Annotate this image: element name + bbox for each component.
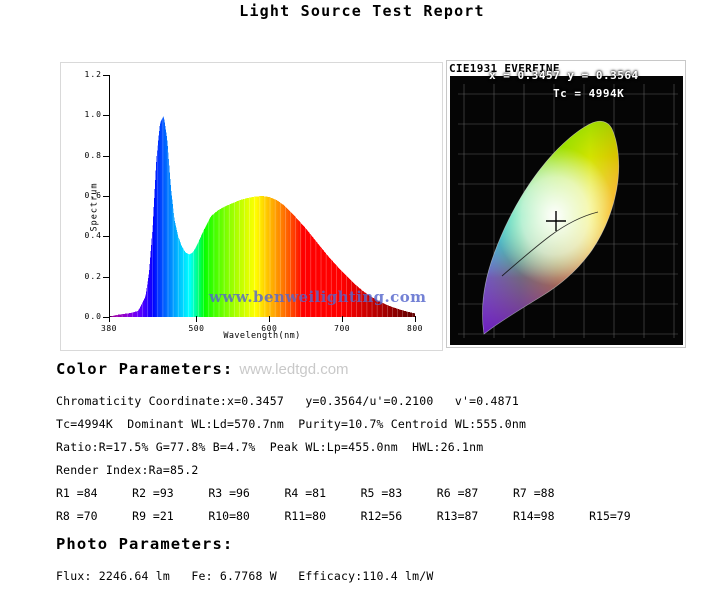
ledtgd-site-label: www.ledtgd.com	[239, 361, 348, 378]
flux-line: Flux: 2246.64 lm Fe: 6.7768 W Efficacy:1…	[56, 565, 434, 588]
ratio-peak-line: Ratio:R=17.5% G=77.8% B=4.7% Peak WL:Lp=…	[56, 436, 631, 459]
color-parameters-heading-text: Color Parameters:	[56, 360, 233, 378]
x-tick	[415, 316, 416, 322]
x-tick	[109, 316, 110, 322]
spectrum-watermark: www.benweilighting.com	[209, 288, 426, 306]
cie-chart-panel: CIE1931 EVERFINE	[446, 60, 686, 348]
color-parameters-heading: Color Parameters:www.ledtgd.com	[56, 360, 631, 378]
cie-xy-readout: x = 0.3457 y = 0.3564	[489, 69, 639, 82]
spectrum-x-axis-title: Wavelength(nm)	[109, 331, 415, 341]
y-tick-label: 0.2	[85, 273, 102, 281]
chromaticity-line: Chromaticity Coordinate:x=0.3457 y=0.356…	[56, 390, 631, 413]
color-parameters-section: Color Parameters:www.ledtgd.com Chromati…	[56, 360, 631, 528]
spectrum-chart-panel: Spectrum 0.00.20.40.60.81.01.2 380500600…	[60, 62, 443, 351]
y-tick	[103, 236, 109, 237]
cct-dominant-line: Tc=4994K Dominant WL:Ld=570.7nm Purity=1…	[56, 413, 631, 436]
render-index-row-2: R8 =70 R9 =21 R10=80 R11=80 R12=56 R13=8…	[56, 505, 631, 528]
y-tick	[103, 196, 109, 197]
y-tick	[103, 75, 109, 76]
y-tick	[103, 115, 109, 116]
report-page: Light Source Test Report Spectrum 0.00.2…	[0, 0, 724, 593]
photo-parameters-section: Photo Parameters: Flux: 2246.64 lm Fe: 6…	[56, 535, 434, 588]
photo-parameters-heading: Photo Parameters:	[56, 535, 434, 553]
x-tick	[196, 316, 197, 322]
cie-diagram-svg	[450, 76, 683, 345]
y-tick	[103, 156, 109, 157]
render-index-row-1: R1 =84 R2 =93 R3 =96 R4 =81 R5 =83 R6 =8…	[56, 482, 631, 505]
spectrum-plot-area: 0.00.20.40.60.81.01.2 380500600700800	[109, 75, 415, 317]
page-title: Light Source Test Report	[0, 2, 724, 20]
cie-cct-readout: Tc = 4994K	[553, 87, 624, 100]
y-tick-label: 0.6	[85, 192, 102, 200]
x-tick	[342, 316, 343, 322]
charts-row: Spectrum 0.00.20.40.60.81.01.2 380500600…	[0, 58, 724, 353]
y-tick-label: 1.2	[85, 71, 102, 79]
spectrum-y-axis-title: Spectrum	[89, 182, 99, 231]
y-tick-label: 1.0	[85, 111, 102, 119]
cie-diagram	[450, 76, 683, 345]
y-tick	[103, 277, 109, 278]
spectrum-curve	[109, 75, 415, 317]
render-index-line: Render Index:Ra=85.2	[56, 459, 631, 482]
y-tick-label: 0.4	[85, 232, 102, 240]
x-tick	[269, 316, 270, 322]
y-tick-label: 0.0	[85, 313, 102, 321]
y-tick-label: 0.8	[85, 152, 102, 160]
